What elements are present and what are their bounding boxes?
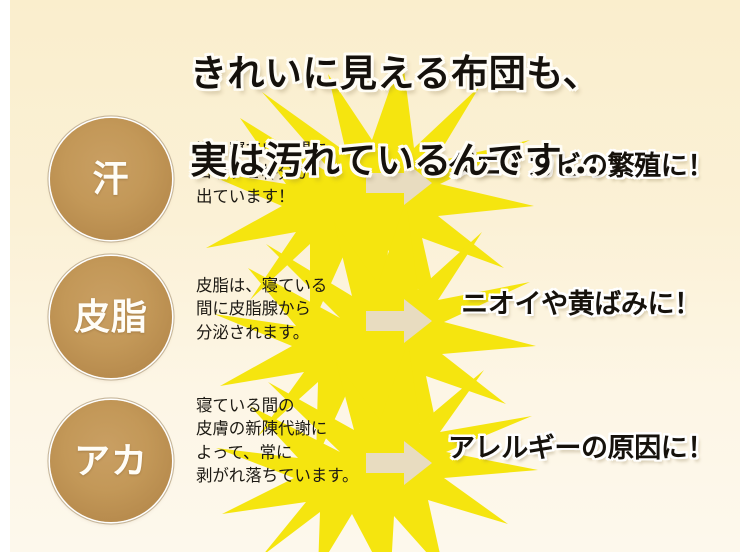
effect-text: ニオイや黄ばみに！ [422, 290, 740, 320]
infographic-banner: きれいに見える布団も、 実は汚れているんです… 汗 汗は寝ている間に コップ１杯… [0, 0, 750, 552]
content-panel: きれいに見える布団も、 実は汚れているんです… 汗 汗は寝ている間に コップ１杯… [10, 0, 740, 552]
dead-skin-circle-icon: アカ [50, 400, 172, 522]
badge-label: 汗 [92, 161, 129, 197]
sweat-circle-icon: 汗 [50, 118, 172, 240]
sebum-circle-icon: 皮脂 [50, 256, 172, 378]
cause-row: 皮脂 皮脂は、寝ている 間に皮脂腺から 分泌されます。 ニオイや黄ばみに！ [10, 246, 740, 386]
cause-description: 皮脂は、寝ている 間に皮脂腺から 分泌されます。 [196, 274, 371, 344]
badge-label: 皮脂 [74, 299, 148, 335]
page-title-line-2: 実は汚れているんです… [160, 139, 630, 183]
cause-row: アカ 寝ている間の 皮膚の新陳代謝に よって、常に 剥がれ落ちています。 アレル… [10, 378, 740, 518]
page-title-line-1: きれいに見える布団も、 [160, 52, 630, 96]
badge-label: アカ [74, 443, 148, 479]
page-title: きれいに見える布団も、 実は汚れているんです… [160, 8, 630, 226]
effect-text: アレルギーの原因に！ [422, 434, 740, 464]
cause-description: 寝ている間の 皮膚の新陳代謝に よって、常に 剥がれ落ちています。 [196, 394, 371, 488]
